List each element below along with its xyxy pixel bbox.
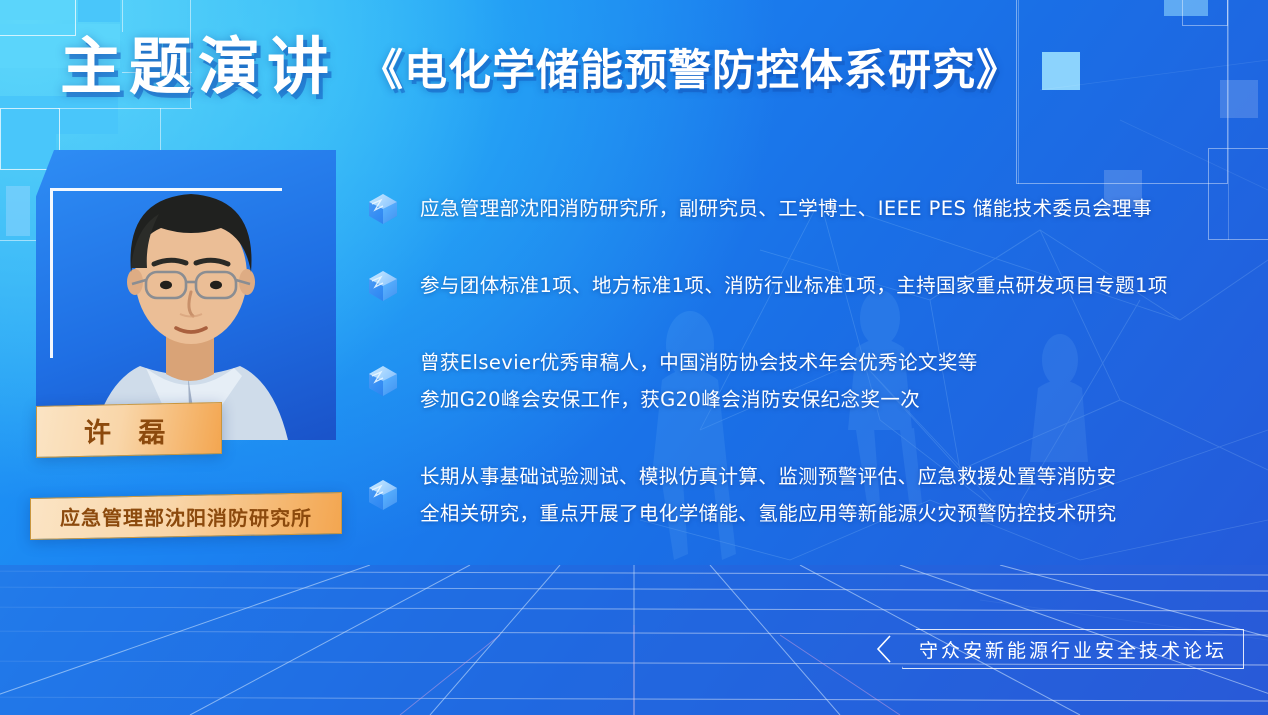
list-item-line: 全相关研究，重点开展了电化学储能、氢能应用等新能源火灾预警防控技术研究 [420, 495, 1117, 532]
list-item: 参与团体标准1项、地方标准1项、消防行业标准1项，主持国家重点研发项目专题1项 [366, 267, 1246, 304]
decor-frame-right-2 [1016, 0, 1228, 184]
page-subtitle: 《电化学储能预警防控体系研究》 [360, 50, 1020, 98]
decor-vline-2 [122, 0, 123, 32]
forum-tag: 守众安新能源行业安全技术论坛 [876, 629, 1244, 669]
list-item-line: 长期从事基础试验测试、模拟仿真计算、监测预警评估、应急救援处置等消防安 [420, 458, 1117, 495]
speaker-name-plate: 许 磊 [36, 402, 222, 458]
avatar [84, 164, 298, 440]
list-item-text: 曾获Elsevier优秀审稿人，中国消防协会技术年会优秀论文奖等 参加G20峰会… [420, 344, 978, 418]
list-item-line: 曾获Elsevier优秀审稿人，中国消防协会技术年会优秀论文奖等 [420, 344, 978, 381]
slide-canvas: 主题演讲 《电化学储能预警防控体系研究》 [0, 0, 1268, 715]
gem-bullet-icon [366, 478, 400, 512]
credentials-list: 应急管理部沈阳消防研究所，副研究员、工学博士、IEEE PES 储能技术委员会理… [366, 190, 1246, 572]
list-item-line: 参与团体标准1项、地方标准1项、消防行业标准1项，主持国家重点研发项目专题1项 [420, 267, 1168, 304]
speaker-card [36, 150, 336, 440]
double-chevron-left-icon [876, 634, 892, 664]
speaker-org-plate: 应急管理部沈阳消防研究所 [30, 492, 342, 540]
list-item-text: 参与团体标准1项、地方标准1项、消防行业标准1项，主持国家重点研发项目专题1项 [420, 267, 1168, 304]
forum-name: 守众安新能源行业安全技术论坛 [902, 629, 1244, 669]
list-item-text: 长期从事基础试验测试、模拟仿真计算、监测预警评估、应急救援处置等消防安 全相关研… [420, 458, 1117, 532]
decor-tile-topleft-6 [6, 186, 30, 236]
gem-bullet-icon [366, 364, 400, 398]
page-title: 主题演讲 [60, 36, 336, 98]
gem-bullet-icon [366, 269, 400, 303]
gem-bullet-icon [366, 192, 400, 226]
speaker-organization: 应急管理部沈阳消防研究所 [60, 501, 312, 530]
list-item-line: 参加G20峰会安保工作，获G20峰会消防安保纪念奖一次 [420, 381, 978, 418]
list-item: 应急管理部沈阳消防研究所，副研究员、工学博士、IEEE PES 储能技术委员会理… [366, 190, 1246, 227]
list-item-line: 应急管理部沈阳消防研究所，副研究员、工学博士、IEEE PES 储能技术委员会理… [420, 190, 1152, 227]
list-item: 长期从事基础试验测试、模拟仿真计算、监测预警评估、应急救援处置等消防安 全相关研… [366, 458, 1246, 532]
list-item: 曾获Elsevier优秀审稿人，中国消防协会技术年会优秀论文奖等 参加G20峰会… [366, 344, 1246, 418]
decor-tile-topleft-3 [78, 0, 120, 22]
headline-block: 主题演讲 《电化学储能预警防控体系研究》 [60, 36, 1020, 98]
list-item-text: 应急管理部沈阳消防研究所，副研究员、工学博士、IEEE PES 储能技术委员会理… [420, 190, 1152, 227]
decor-hline-2 [58, 108, 192, 109]
speaker-name: 许 磊 [84, 411, 174, 450]
